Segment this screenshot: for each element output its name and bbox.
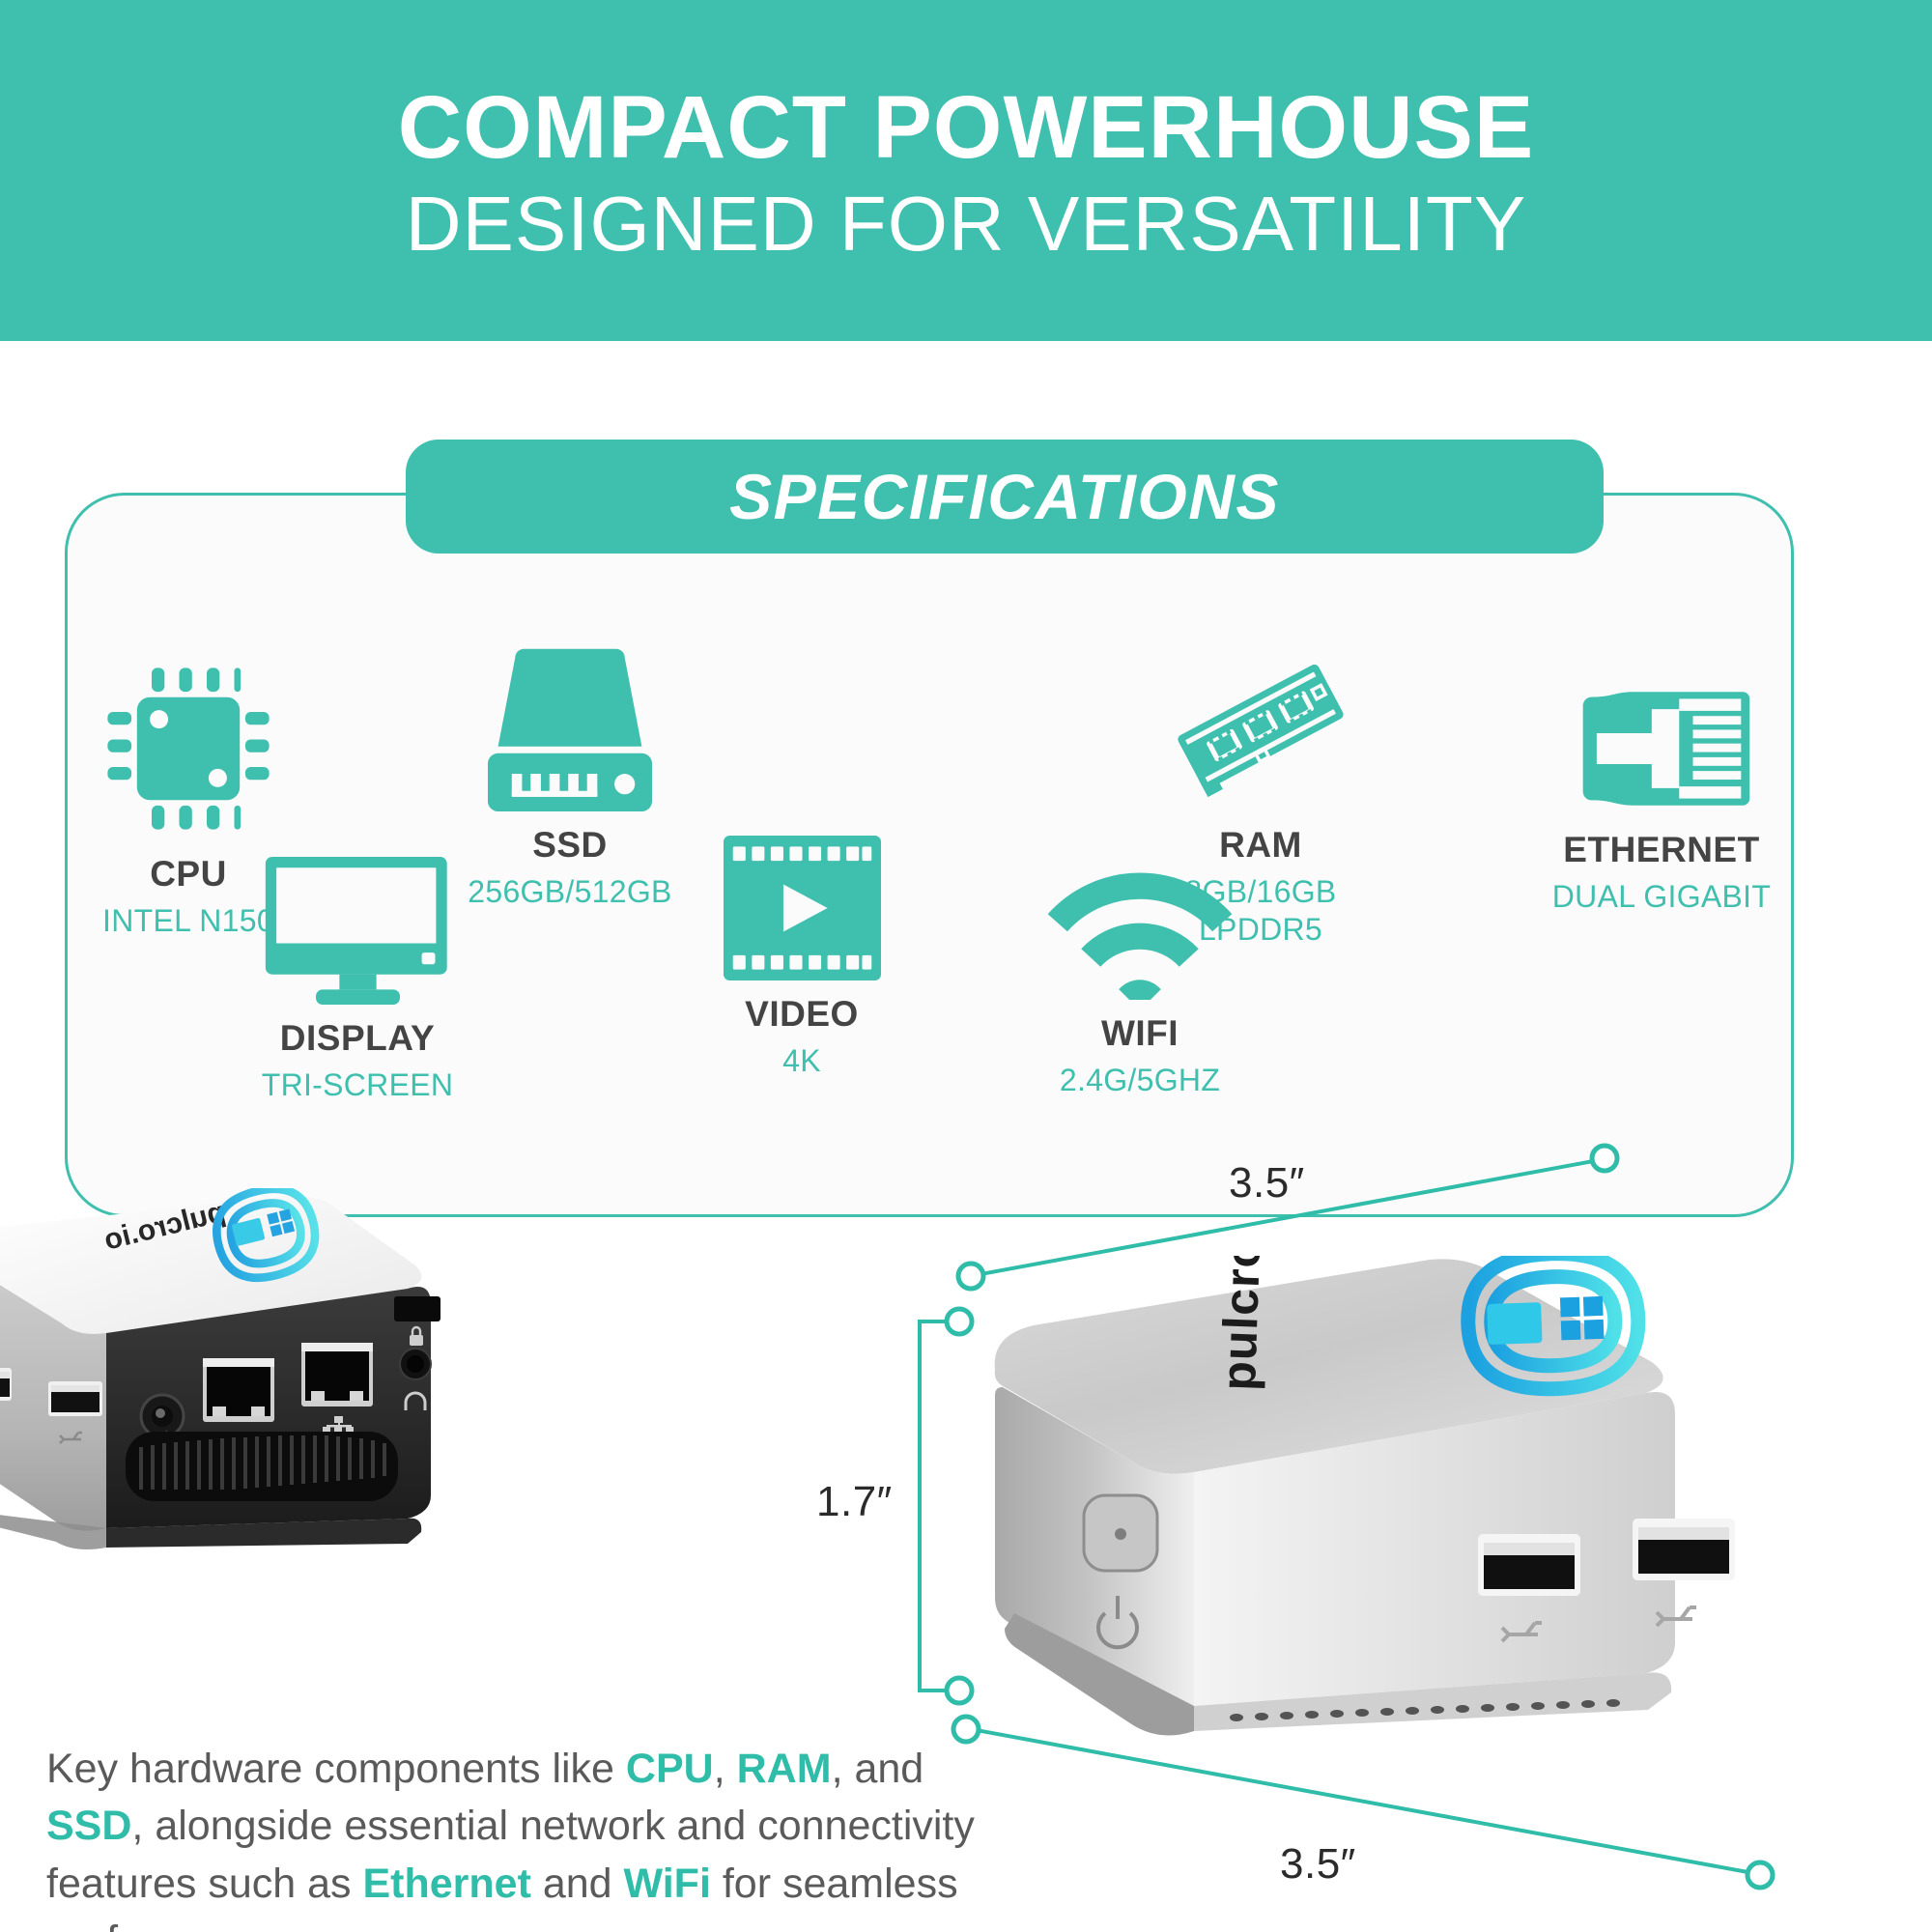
specifications-pill: SPECIFICATIONS — [406, 440, 1604, 554]
spec-title-ethernet: ETHERNET — [1507, 830, 1816, 870]
spec-item-wifi: WIFI 2.4G/5GHZ — [1005, 860, 1275, 1099]
cpu-chip-icon — [58, 657, 319, 840]
spec-title-wifi: WIFI — [1005, 1013, 1275, 1054]
spec-item-video: VIDEO 4K — [681, 836, 923, 1080]
infographic-page: COMPACT POWERHOUSE DESIGNED FOR VERSATIL… — [0, 0, 1932, 1932]
headline-secondary: DESIGNED FOR VERSATILITY — [406, 181, 1526, 268]
spec-item-ssd: SSD 256GB/512GB — [435, 647, 705, 911]
headline-primary: COMPACT POWERHOUSE — [398, 81, 1535, 175]
svg-text:pulcro.io: pulcro.io — [1211, 1256, 1273, 1392]
dimension-label-depth: 3.5″ — [1280, 1840, 1356, 1889]
description-keyword: WiFi — [624, 1861, 711, 1907]
spec-sub-ethernet: DUAL GIGABIT — [1507, 878, 1816, 916]
product-photo-front: pulcro.io — [976, 1256, 1932, 1797]
rj45-ethernet-icon — [1507, 681, 1816, 816]
description-keyword: Ethernet — [362, 1861, 530, 1907]
spec-title-display: DISPLAY — [227, 1018, 488, 1059]
ssd-drive-icon — [435, 647, 705, 811]
description-keyword: CPU — [626, 1746, 714, 1792]
ram-module-icon — [1135, 642, 1386, 811]
spec-sub-display: TRI-SCREEN — [227, 1066, 488, 1104]
power-button — [1084, 1495, 1157, 1571]
spec-sub-video: 4K — [681, 1042, 923, 1080]
spec-sub-wifi: 2.4G/5GHZ — [1005, 1062, 1275, 1099]
film-strip-icon — [681, 836, 923, 980]
spec-title-ssd: SSD — [435, 825, 705, 866]
wifi-signal-icon — [1005, 860, 1275, 1000]
dimension-label-height: 1.7″ — [816, 1478, 893, 1526]
spec-sub-ssd: 256GB/512GB — [435, 873, 705, 911]
product-photo-rear: pulcro.io — [0, 1188, 657, 1594]
spec-item-ethernet: ETHERNET DUAL GIGABIT — [1507, 681, 1816, 916]
description-keyword: SSD — [46, 1803, 131, 1849]
description-text: Key hardware components like CPU, RAM, a… — [46, 1741, 998, 1932]
description-keyword: RAM — [737, 1746, 832, 1792]
specifications-pill-label: SPECIFICATIONS — [729, 460, 1280, 533]
header-banner: COMPACT POWERHOUSE DESIGNED FOR VERSATIL… — [0, 0, 1932, 341]
spec-title-video: VIDEO — [681, 994, 923, 1035]
dimension-label-width: 3.5″ — [1229, 1159, 1305, 1207]
